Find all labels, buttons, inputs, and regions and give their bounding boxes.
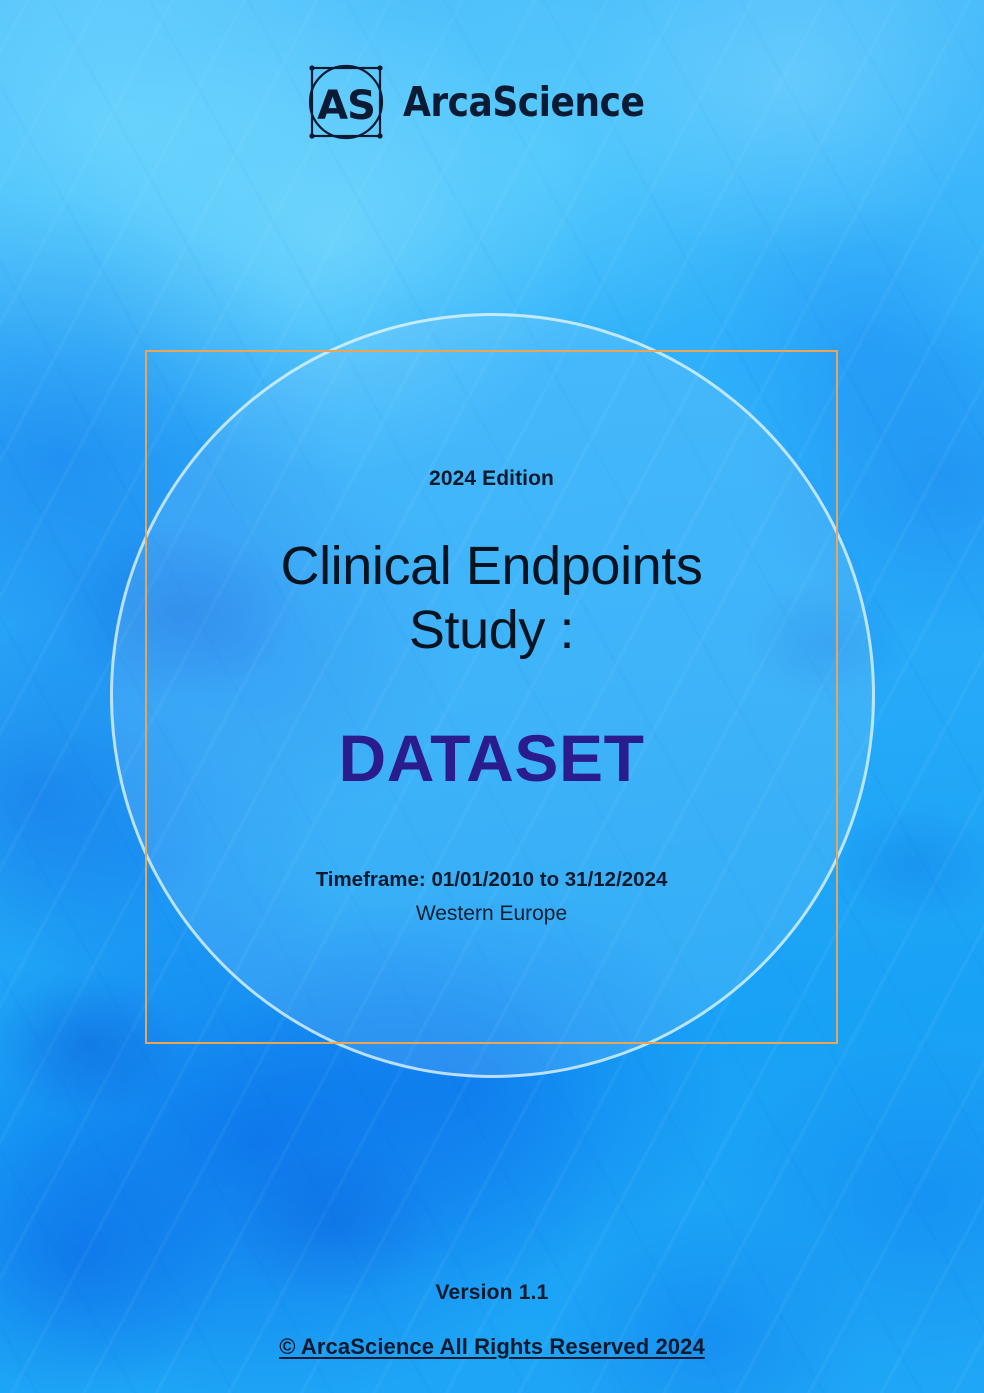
svg-text:AS: AS <box>317 83 375 129</box>
timeframe-label: Timeframe: 01/01/2010 to 31/12/2024 <box>316 868 668 892</box>
brand-logo: AS ArcaScience <box>0 62 984 142</box>
brand-wordmark: ArcaScience <box>403 78 644 126</box>
cover-footer: Version 1.1 © ArcaScience All Rights Res… <box>0 1281 984 1360</box>
document-cover-page: AS ArcaScience 2024 Edition Clinical End… <box>0 0 984 1393</box>
cover-subject: DATASET <box>338 720 644 796</box>
edition-label: 2024 Edition <box>429 467 554 491</box>
region-label: Western Europe <box>416 902 567 926</box>
cover-title: Clinical Endpoints Study : <box>212 535 772 662</box>
cover-text-block: 2024 Edition Clinical Endpoints Study : … <box>145 350 838 1044</box>
copyright-notice[interactable]: © ArcaScience All Rights Reserved 2024 <box>0 1334 984 1360</box>
version-label: Version 1.1 <box>0 1281 984 1305</box>
arcascience-square-circle-logo-icon: AS <box>306 62 386 142</box>
